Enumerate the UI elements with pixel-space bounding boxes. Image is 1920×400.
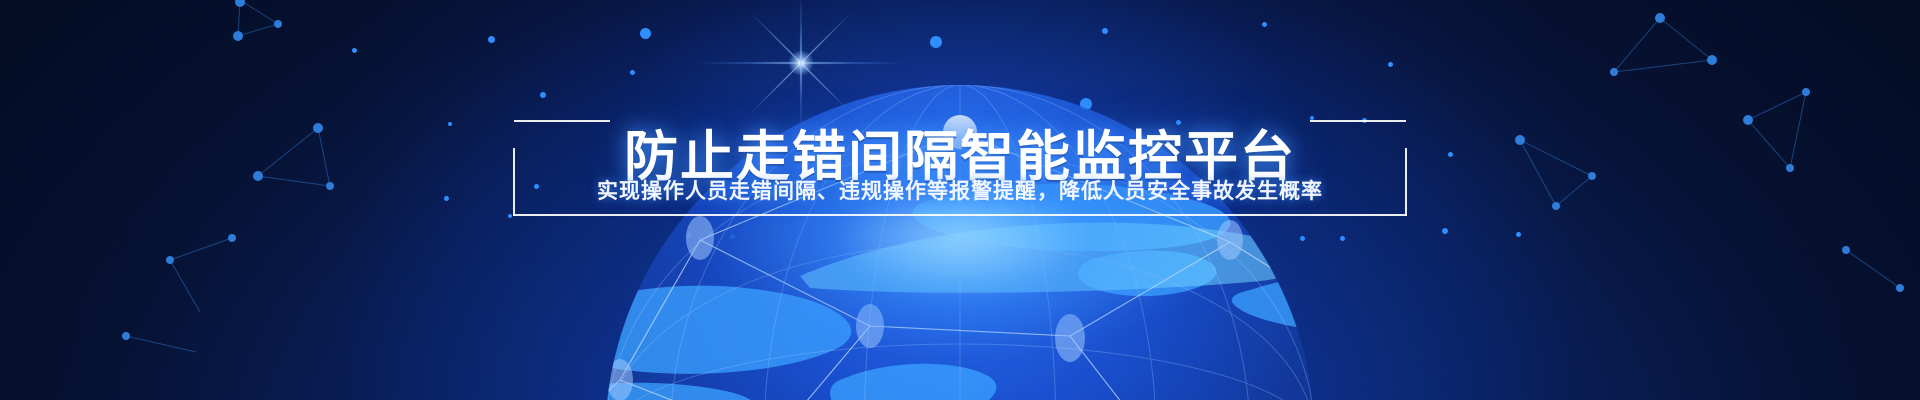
frame-right bbox=[1405, 148, 1407, 216]
speck bbox=[540, 92, 546, 98]
speck bbox=[1080, 98, 1092, 110]
speck bbox=[352, 48, 357, 53]
speck bbox=[930, 36, 942, 48]
speck bbox=[1340, 236, 1345, 241]
title-rule-right bbox=[1310, 120, 1406, 122]
frame-bottom bbox=[513, 214, 1407, 216]
hero-banner: 防止走错间隔智能监控平台 实现操作人员走错间隔、违规操作等报警提醒，降低人员安全… bbox=[0, 0, 1920, 400]
speck bbox=[508, 214, 512, 218]
speck bbox=[1448, 152, 1453, 157]
speck bbox=[640, 28, 651, 39]
page-title: 防止走错间隔智能监控平台 bbox=[624, 130, 1296, 184]
speck bbox=[488, 36, 495, 43]
speck bbox=[1176, 120, 1181, 125]
speck bbox=[534, 184, 539, 189]
speck bbox=[1102, 28, 1108, 34]
speck bbox=[686, 232, 692, 238]
star-burst-icon bbox=[800, 62, 802, 64]
speck bbox=[1388, 62, 1393, 67]
page-subtitle: 实现操作人员走错间隔、违规操作等报警提醒，降低人员安全事故发生概率 bbox=[597, 181, 1323, 202]
speck bbox=[630, 70, 635, 75]
frame-left bbox=[513, 148, 515, 216]
speck bbox=[730, 234, 735, 239]
speck bbox=[1262, 22, 1267, 27]
speck bbox=[1516, 232, 1521, 237]
title-rule-left bbox=[514, 120, 610, 122]
speck bbox=[444, 196, 449, 201]
speck bbox=[1442, 228, 1448, 234]
speck bbox=[1300, 236, 1305, 241]
speck bbox=[448, 122, 452, 126]
